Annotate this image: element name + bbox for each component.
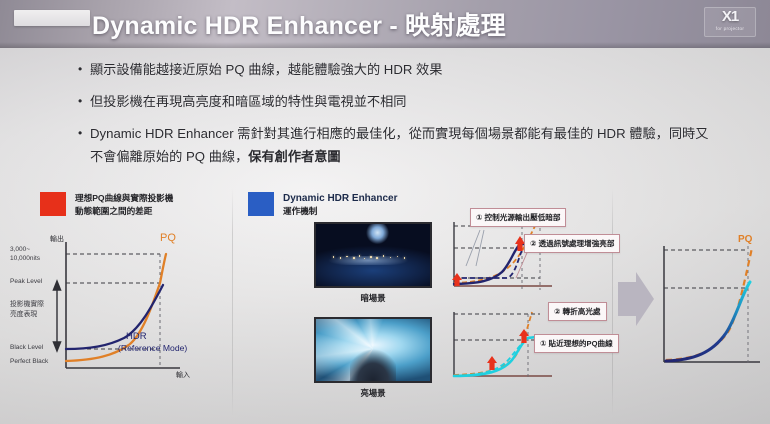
legend-swatch-blue (248, 192, 274, 216)
page-title: Dynamic HDR Enhancer - 映射處理 (92, 6, 506, 42)
bullet-text-emphasis: 保有創作者意圖 (248, 149, 340, 164)
legend-ideal-pq-gap: 理想PQ曲線與實際投影機 動態範圍之間的差距 (40, 192, 225, 217)
callout-close-to-ideal-pq: ① 貼近理想的PQ曲線 (534, 334, 619, 353)
bullet-text-main: Dynamic HDR Enhancer 需針對其進行相應的最佳化，從而實現每個… (90, 126, 708, 164)
chart-pq-vs-hdr-reference: 輸出 輸入 3,000~ 10,000nits Peak Level Black… (8, 228, 228, 398)
legend-line-2: 動態範圍之間的差距 (75, 205, 173, 218)
arrow-shape (618, 272, 654, 326)
bullet-text: Dynamic HDR Enhancer 需針對其進行相應的最佳化，從而實現每個… (90, 122, 718, 168)
chart-left-svg (8, 228, 228, 398)
slide-header: Dynamic HDR Enhancer - 映射處理 X1 for proje… (0, 0, 770, 48)
y-tick-nits-line2: 10,000nits (10, 255, 40, 262)
y-tick-black-level: Black Level (10, 344, 43, 351)
bullet-text: 但投影機在再現高亮度和暗區域的特性與電視並不相同 (90, 90, 718, 113)
bullet-item-2: • 但投影機在再現高亮度和暗區域的特性與電視並不相同 (78, 90, 718, 113)
projector-range-label-line2: 亮度表現 (10, 310, 37, 319)
bullet-item-1: • 顯示設備能越接近原始 PQ 曲線，越能體驗強大的 HDR 效果 (78, 58, 718, 81)
series-label-hdr: HDR (126, 331, 147, 342)
bullet-item-3: • Dynamic HDR Enhancer 需針對其進行相應的最佳化，從而實現… (78, 122, 718, 168)
thumbnail-image-dark (314, 222, 432, 288)
bullet-list: • 顯示設備能越接近原始 PQ 曲線，越能體驗強大的 HDR 效果 • 但投影機… (78, 58, 718, 177)
slide-canvas: Dynamic HDR Enhancer - 映射處理 X1 for proje… (0, 0, 770, 424)
legend-dynamic-hdr-enhancer: Dynamic HDR Enhancer 運作機制 (248, 192, 438, 218)
bullet-text: 顯示設備能越接近原始 PQ 曲線，越能體驗強大的 HDR 效果 (90, 58, 718, 81)
legend-swatch-red (40, 192, 66, 216)
y-tick-nits-line1: 3,000~ (10, 246, 30, 253)
y-tick-perfect-black: Perfect Black (10, 358, 48, 365)
thumbnail-bright-scene: 亮場景 (314, 317, 432, 399)
title-accent-bar (14, 10, 90, 26)
curve-result (666, 282, 750, 361)
photo-frame: Dynamic HDR Enhancer - 映射處理 X1 for proje… (0, 0, 770, 424)
dynamic-range-arrow (53, 281, 60, 351)
legend-label: 理想PQ曲線與實際投影機 動態範圍之間的差距 (75, 192, 173, 217)
chart-result-pq-tracking: PQ (654, 238, 764, 388)
thumbnail-dark-scene: 暗場景 (314, 222, 432, 304)
bullet-marker: • (78, 58, 90, 81)
logo-mark-text: X1 (705, 8, 755, 25)
callout-signal-boost-highlights: ② 透過訊號處理增強亮部 (524, 234, 620, 253)
x1-projector-logo: X1 for projector (704, 7, 756, 37)
legend-line-1: 理想PQ曲線與實際投影機 (75, 192, 173, 205)
legend-label: Dynamic HDR Enhancer 運作機制 (283, 192, 397, 218)
leader-1a (466, 230, 480, 266)
logo-subtitle-text: for projector (705, 25, 755, 32)
thumbnail-image-bright (314, 317, 432, 383)
bullet-marker: • (78, 122, 90, 145)
chart-right-svg (654, 238, 764, 388)
x-axis-title: 輸入 (176, 370, 190, 380)
diagram-area: 理想PQ曲線與實際投影機 動態範圍之間的差距 Dynamic HDR Enhan… (0, 182, 770, 424)
callout-knee-highlight: ② 轉折高光處 (548, 302, 607, 321)
callout-control-light-output: ① 控制光源輸出壓低暗部 (470, 208, 566, 227)
leader-1b (476, 230, 484, 266)
series-label-pq: PQ (160, 232, 176, 244)
series-label-hdr-mode: (Reference Mode) (118, 343, 187, 353)
panel-divider-left (232, 188, 233, 416)
result-arrow-icon (618, 272, 654, 326)
bright-scene-graphic (316, 319, 430, 381)
projector-range-label-line1: 投影機實際 (10, 300, 44, 309)
legend-line-1: Dynamic HDR Enhancer (283, 192, 397, 205)
thumbnail-caption-dark: 暗場景 (314, 292, 432, 304)
thumbnail-caption-bright: 亮場景 (314, 387, 432, 399)
series-label-pq-right: PQ (738, 234, 752, 245)
bullet-marker: • (78, 90, 90, 113)
legend-line-2: 運作機制 (283, 205, 397, 218)
y-tick-peak-level: Peak Level (10, 278, 42, 285)
y-axis-title: 輸出 (50, 234, 64, 244)
night-lights-group (327, 254, 416, 260)
arrow-right-icon (618, 272, 654, 326)
